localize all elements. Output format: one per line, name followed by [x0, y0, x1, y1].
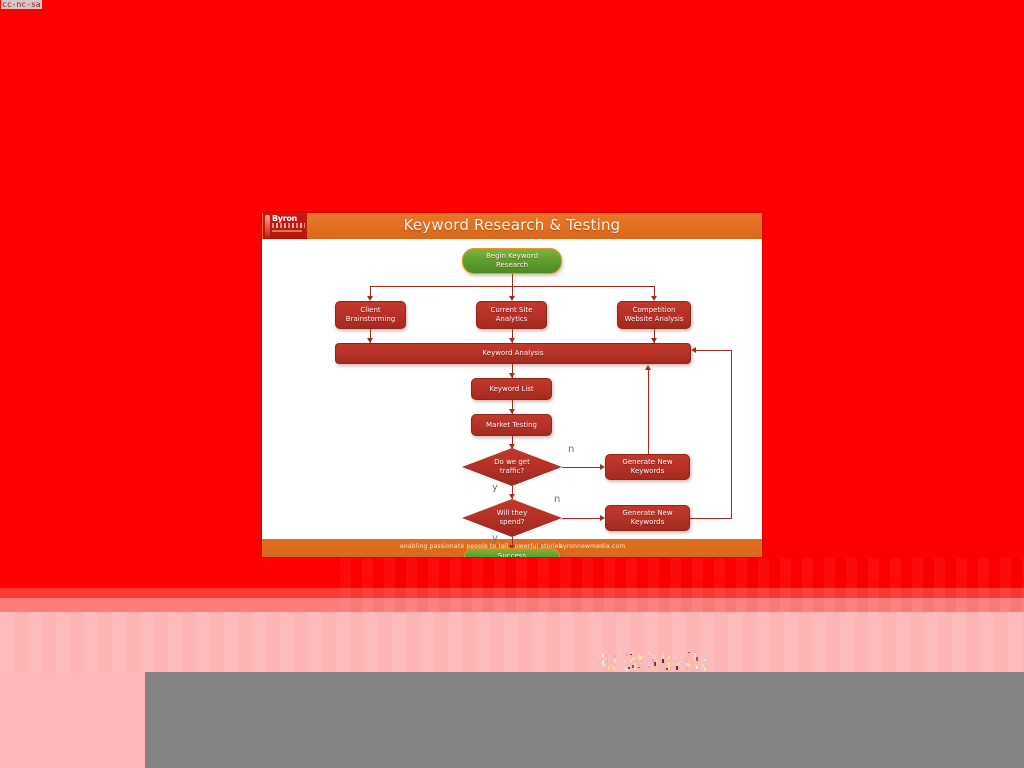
glitch-pixel: [614, 668, 616, 671]
glitch-pixel: [656, 666, 658, 667]
node-decision-will-they-spend[interactable]: Will they spend?: [462, 499, 562, 537]
glitch-pixel: [604, 664, 606, 666]
page-title: Keyword Research & Testing: [262, 216, 762, 234]
node-label-line2: Website Analysis: [625, 315, 684, 324]
node-label-line2: Keywords: [631, 467, 665, 476]
node-label-line2: traffic?: [462, 467, 562, 476]
node-keyword-list[interactable]: Keyword List: [471, 378, 552, 400]
glitch-pixel: [688, 664, 690, 667]
glitch-pixel: [704, 667, 706, 671]
glitch-pixel: [656, 660, 658, 664]
node-competition-website-analysis[interactable]: Competition Website Analysis: [617, 301, 691, 329]
node-label-line2: Research: [496, 261, 528, 270]
glitch-pixel: [630, 660, 632, 661]
glitch-pixel: [702, 664, 704, 665]
glitch-pixel: [630, 661, 632, 662]
node-client-brainstorming[interactable]: Client Brainstorming: [335, 301, 406, 329]
connector-traffic-no-to-gen1: [562, 467, 602, 468]
creative-commons-watermark: cc-nc-sa: [1, 0, 42, 9]
node-label-line1: Generate New: [622, 509, 672, 518]
glitch-pixel: [662, 659, 664, 663]
glitch-pixel: [648, 662, 650, 666]
scan-stripe-overlay-upper: [340, 558, 1024, 614]
glitch-pixel: [628, 667, 630, 669]
edge-label-spend-yes: y: [492, 533, 498, 544]
glitch-pixel: [680, 661, 682, 662]
glitch-pixel: [688, 661, 690, 664]
glitch-pixel: [604, 657, 606, 658]
glitch-pixel: [672, 660, 674, 661]
node-decision-do-we-get-traffic[interactable]: Do we get traffic?: [462, 448, 562, 486]
arrow-gen1-feedback-to-analysis: [645, 365, 651, 370]
node-label-line2: spend?: [462, 518, 562, 527]
node-label: Success: [498, 552, 526, 557]
edge-label-traffic-no: n: [568, 444, 574, 455]
edge-label-spend-no: n: [554, 494, 560, 505]
glitch-pixel: [634, 666, 636, 668]
edge-label-traffic-yes: y: [492, 482, 498, 493]
node-label-line2: Keywords: [631, 518, 665, 527]
glitch-pixel: [614, 655, 616, 657]
glitch-pixel: [696, 666, 698, 669]
scan-stripe-overlay-lower: [0, 612, 1024, 674]
node-current-site-analytics[interactable]: Current Site Analytics: [476, 301, 547, 329]
gray-bottom-block: [145, 672, 1024, 768]
node-label: Keyword List: [489, 385, 533, 394]
glitch-pixel: [634, 658, 636, 659]
node-market-testing[interactable]: Market Testing: [471, 414, 552, 436]
connector-gen1-feedback-vertical: [648, 369, 649, 454]
glitch-pixel: [642, 657, 644, 658]
glitch-pixel: [648, 652, 650, 654]
node-label-line1: Do we get: [462, 458, 562, 467]
glitch-pixel: [598, 655, 600, 658]
glitch-pixel: [624, 663, 626, 665]
glitch-pixel: [608, 660, 610, 661]
glitch-pixel: [618, 657, 620, 660]
glitch-pixel: [652, 667, 654, 669]
glitch-pixel-noise: [598, 652, 706, 672]
presentation-slide: Byron Keyword Research & Testing Begin K…: [262, 213, 762, 557]
glitch-pixel: [618, 652, 620, 654]
glitch-pixel: [626, 654, 628, 656]
glitch-pixel: [640, 663, 642, 664]
glitch-pixel: [674, 657, 676, 658]
node-generate-new-keywords-2[interactable]: Generate New Keywords: [605, 505, 690, 531]
node-label-line1: Will they: [462, 509, 562, 518]
glitch-pixel: [668, 656, 670, 659]
node-generate-new-keywords-1[interactable]: Generate New Keywords: [605, 454, 690, 480]
glitch-pixel: [678, 663, 680, 665]
node-label-line2: Analytics: [496, 315, 528, 324]
glitch-pixel: [640, 665, 642, 668]
node-label-line2: Brainstorming: [346, 315, 395, 324]
arrow-gen2-feedback-to-analysis: [691, 347, 696, 353]
node-label: Keyword Analysis: [483, 349, 544, 358]
connector-gen2-feedback-right: [690, 518, 731, 519]
glitch-pixel: [686, 667, 688, 669]
glitch-pixel: [604, 660, 606, 663]
node-label: Market Testing: [486, 421, 537, 430]
glitch-pixel: [696, 657, 698, 661]
node-label-line1: Current Site: [491, 306, 533, 315]
glitch-pixel: [688, 652, 690, 653]
node-success[interactable]: Success: [464, 548, 560, 557]
glitch-pixel: [704, 659, 706, 661]
node-label-line1: Competition: [633, 306, 676, 315]
node-label-line1: Begin Keyword: [486, 252, 538, 261]
connector-spend-no-to-gen2: [562, 518, 602, 519]
glitch-pixel: [630, 652, 632, 654]
glitch-pixel: [608, 666, 610, 668]
connector-gen2-feedback-left: [696, 350, 732, 351]
footer-url[interactable]: byronnewmedia.com: [559, 543, 625, 550]
glitch-pixel: [704, 654, 706, 657]
connector-begin-down: [512, 274, 513, 286]
node-keyword-analysis[interactable]: Keyword Analysis: [335, 343, 691, 364]
glitch-pixel: [680, 657, 682, 658]
flowchart-canvas: Begin Keyword Research Client Brainstorm…: [262, 239, 762, 539]
glitch-pixel: [668, 666, 670, 670]
pink-tail-block: [0, 672, 145, 768]
node-label-line1: Client: [360, 306, 380, 315]
node-label-line1: Generate New: [622, 458, 672, 467]
glitch-pixel: [614, 659, 616, 662]
node-begin-keyword-research[interactable]: Begin Keyword Research: [462, 248, 562, 274]
connector-gen2-feedback-vertical: [731, 350, 732, 519]
glitch-pixel: [676, 666, 678, 670]
